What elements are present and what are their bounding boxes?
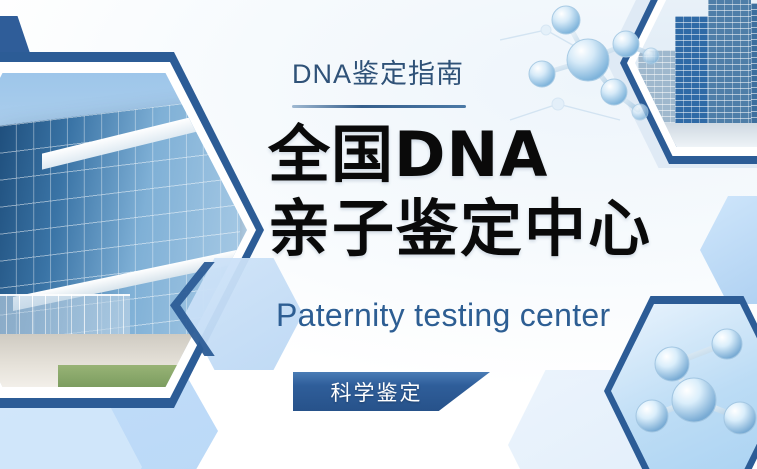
photo-roof-slab — [43, 105, 241, 170]
hexagon-backdrop-bottom-left — [0, 286, 218, 469]
scientific-testing-button[interactable]: 科学鉴定 — [293, 372, 490, 411]
photo-sky — [0, 73, 247, 387]
subtitle-english: Paternity testing center — [276, 297, 610, 334]
poster-banner: DNA鉴定指南 全国DNA 亲子鉴定中心 Paternity testing c… — [0, 0, 757, 469]
photo-window-grid — [0, 145, 25, 347]
eyebrow-divider — [292, 105, 466, 108]
office-building-photo — [0, 73, 247, 387]
hexagon-molecule-frame-fill — [611, 304, 757, 469]
photo-building-front — [0, 96, 240, 358]
hexagon-photo-frame-inner — [0, 62, 256, 398]
molecule-icon-bottom — [628, 322, 757, 462]
cta-button-label: 科学鉴定 — [331, 377, 423, 407]
photo-building-side — [0, 145, 25, 347]
photo-window-grid — [0, 96, 240, 358]
page-title: 全国DNA 亲子鉴定中心 — [268, 118, 738, 266]
photo-trees — [0, 283, 19, 333]
photo-plaza-ground — [0, 334, 247, 387]
headline-line-1: 全国DNA — [268, 118, 738, 192]
eyebrow-title: DNA鉴定指南 — [292, 52, 464, 91]
photo-entrance-doors — [0, 294, 130, 334]
hexagon-molecule-frame-outline — [604, 296, 757, 469]
city-tower — [751, 3, 757, 147]
photo-entrance-canopy — [14, 249, 241, 311]
photo-lawn — [58, 365, 247, 387]
hexagon-left-edge-dark-icon — [0, 16, 32, 102]
hexagon-backdrop-lower-left — [0, 372, 142, 469]
hexagon-backdrop-bottom-right — [508, 370, 658, 469]
headline-line-2: 亲子鉴定中心 — [268, 192, 738, 266]
molecule-icon-top — [520, 4, 660, 124]
chevron-accent-icon — [170, 262, 256, 356]
hexagon-photo-frame-outline — [0, 52, 264, 408]
